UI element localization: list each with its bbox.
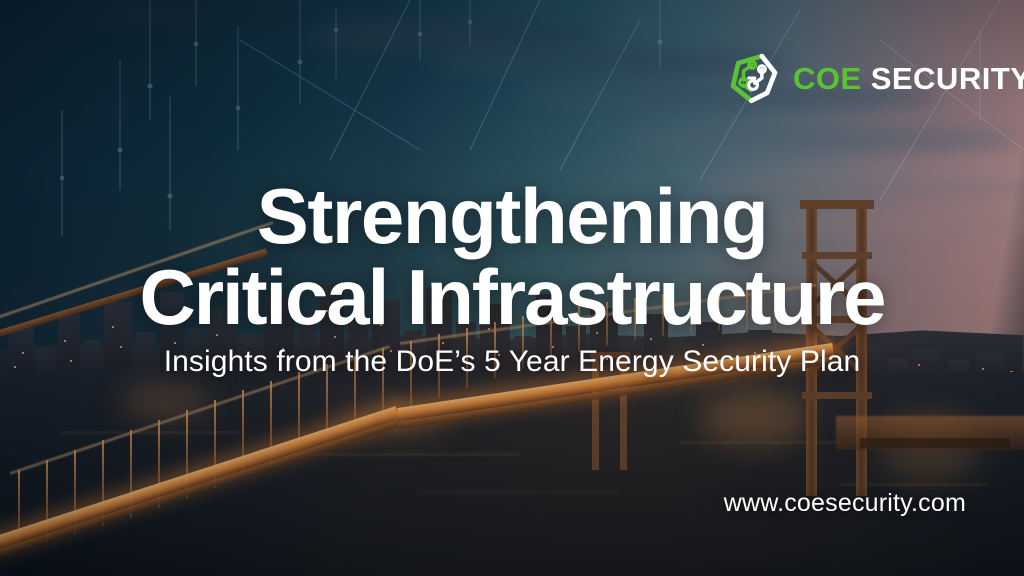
coe-security-shield-circuit-icon [726, 50, 782, 106]
brand-name-security: SECURITY [871, 61, 1024, 96]
page-title: Strengthening Critical Infrastructure [0, 176, 1024, 338]
title-line-2: Critical Infrastructure [0, 257, 1024, 338]
presentation-slide: COESECURITY Strengthening Critical Infra… [0, 0, 1024, 576]
title-line-1: Strengthening [0, 176, 1024, 257]
website-url[interactable]: www.coesecurity.com [724, 489, 966, 518]
subtitle: Insights from the DoE’s 5 Year Energy Se… [0, 345, 1024, 379]
slide-content: COESECURITY Strengthening Critical Infra… [0, 0, 1024, 576]
brand-wordmark: COESECURITY [793, 63, 1024, 94]
brand-name-coe: COE [793, 61, 862, 96]
brand-logo[interactable]: COESECURITY [726, 50, 1024, 106]
